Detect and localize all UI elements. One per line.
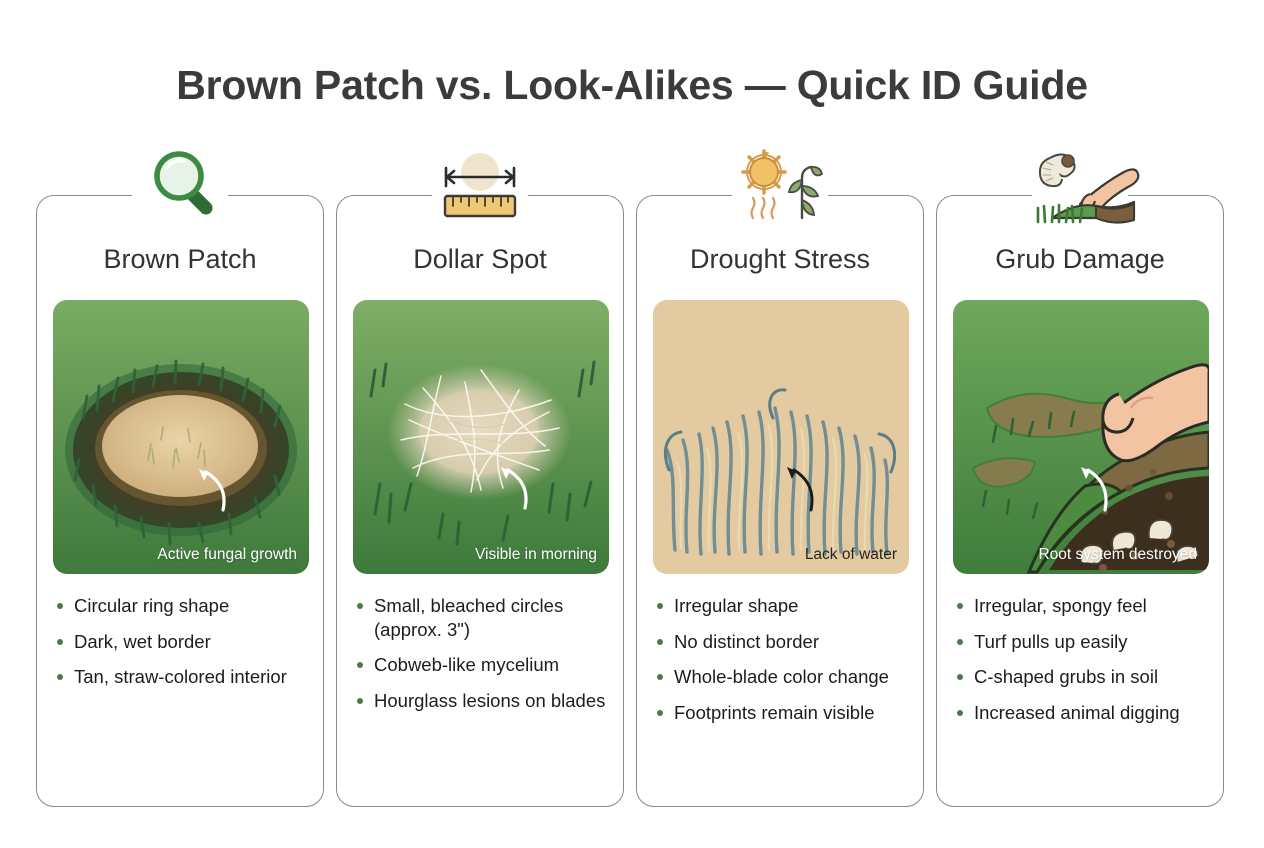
bullet-dot-icon [357,662,363,668]
list-item-label: Hourglass lesions on blades [374,689,605,713]
comparison-card-row: Brown Patch [36,195,1228,807]
list-item-label: Whole-blade color change [674,665,889,689]
caption-arrow-icon [1075,464,1117,512]
bullet-dot-icon [957,603,963,609]
bullet-dot-icon [357,698,363,704]
bullet-dot-icon [957,674,963,680]
page-title: Brown Patch vs. Look-Alikes — Quick ID G… [0,62,1264,109]
bullet-dot-icon [357,603,363,609]
list-item-label: Increased animal digging [974,701,1180,725]
list-item: Circular ring shape [55,594,309,618]
symptom-list: Irregular, spongy feel Turf pulls up eas… [955,594,1209,737]
list-item: No distinct border [655,630,909,654]
list-item-label: Circular ring shape [74,594,229,618]
bullet-dot-icon [657,710,663,716]
list-item-label: Cobweb-like mycelium [374,653,559,677]
list-item-label: Turf pulls up easily [974,630,1128,654]
brown-patch-ring-illustration: Active fungal growth [53,300,309,574]
bullet-dot-icon [957,639,963,645]
symptom-list: Irregular shape No distinct border Whole… [655,594,909,737]
list-item: Dark, wet border [55,630,309,654]
bullet-dot-icon [57,639,63,645]
list-item: Footprints remain visible [655,701,909,725]
symptom-list: Circular ring shape Dark, wet border Tan… [55,594,309,701]
sun-wilting-plant-icon [720,144,840,224]
bullet-dot-icon [657,603,663,609]
illustration-caption: Root system destroyed [1038,546,1197,564]
list-item: C-shaped grubs in soil [955,665,1209,689]
list-item: Increased animal digging [955,701,1209,725]
card-grub-damage[interactable]: Grub Damage [936,195,1224,807]
card-drought-stress[interactable]: Drought Stress [636,195,924,807]
illustration-caption: Visible in morning [475,546,597,564]
dollar-spot-mycelium-illustration: Visible in morning [353,300,609,574]
list-item-label: C-shaped grubs in soil [974,665,1158,689]
list-item: Small, bleached circles (approx. 3") [355,594,609,641]
symptom-list: Small, bleached circles (approx. 3") Cob… [355,594,609,725]
bullet-dot-icon [957,710,963,716]
list-item: Whole-blade color change [655,665,909,689]
drought-wilted-grass-illustration: Lack of water [653,300,909,574]
list-item: Tan, straw-colored interior [55,665,309,689]
list-item-label: Dark, wet border [74,630,211,654]
bullet-dot-icon [57,603,63,609]
card-title: Dollar Spot [337,244,623,275]
caption-arrow-icon [193,466,235,512]
bullet-dot-icon [57,674,63,680]
ruler-measure-icon [420,144,540,224]
card-title: Drought Stress [637,244,923,275]
caption-arrow-icon [495,464,537,510]
card-dollar-spot[interactable]: Dollar Spot [336,195,624,807]
card-brown-patch[interactable]: Brown Patch [36,195,324,807]
list-item-label: Irregular shape [674,594,798,618]
illustration-caption: Active fungal growth [157,546,297,564]
bullet-dot-icon [657,639,663,645]
bullet-dot-icon [657,674,663,680]
list-item: Irregular, spongy feel [955,594,1209,618]
list-item-label: Tan, straw-colored interior [74,665,287,689]
list-item-label: Small, bleached circles (approx. 3") [374,594,609,641]
illustration-caption: Lack of water [805,546,897,564]
list-item: Cobweb-like mycelium [355,653,609,677]
card-title: Brown Patch [37,244,323,275]
list-item: Hourglass lesions on blades [355,689,609,713]
grub-damage-peeled-turf-illustration: Root system destroyed [953,300,1209,574]
list-item: Turf pulls up easily [955,630,1209,654]
magnifier-icon [120,144,240,224]
list-item-label: No distinct border [674,630,819,654]
list-item-label: Footprints remain visible [674,701,875,725]
caption-arrow-icon [781,464,823,512]
card-title: Grub Damage [937,244,1223,275]
grub-hand-turf-icon [1020,144,1140,224]
list-item-label: Irregular, spongy feel [974,594,1147,618]
list-item: Irregular shape [655,594,909,618]
